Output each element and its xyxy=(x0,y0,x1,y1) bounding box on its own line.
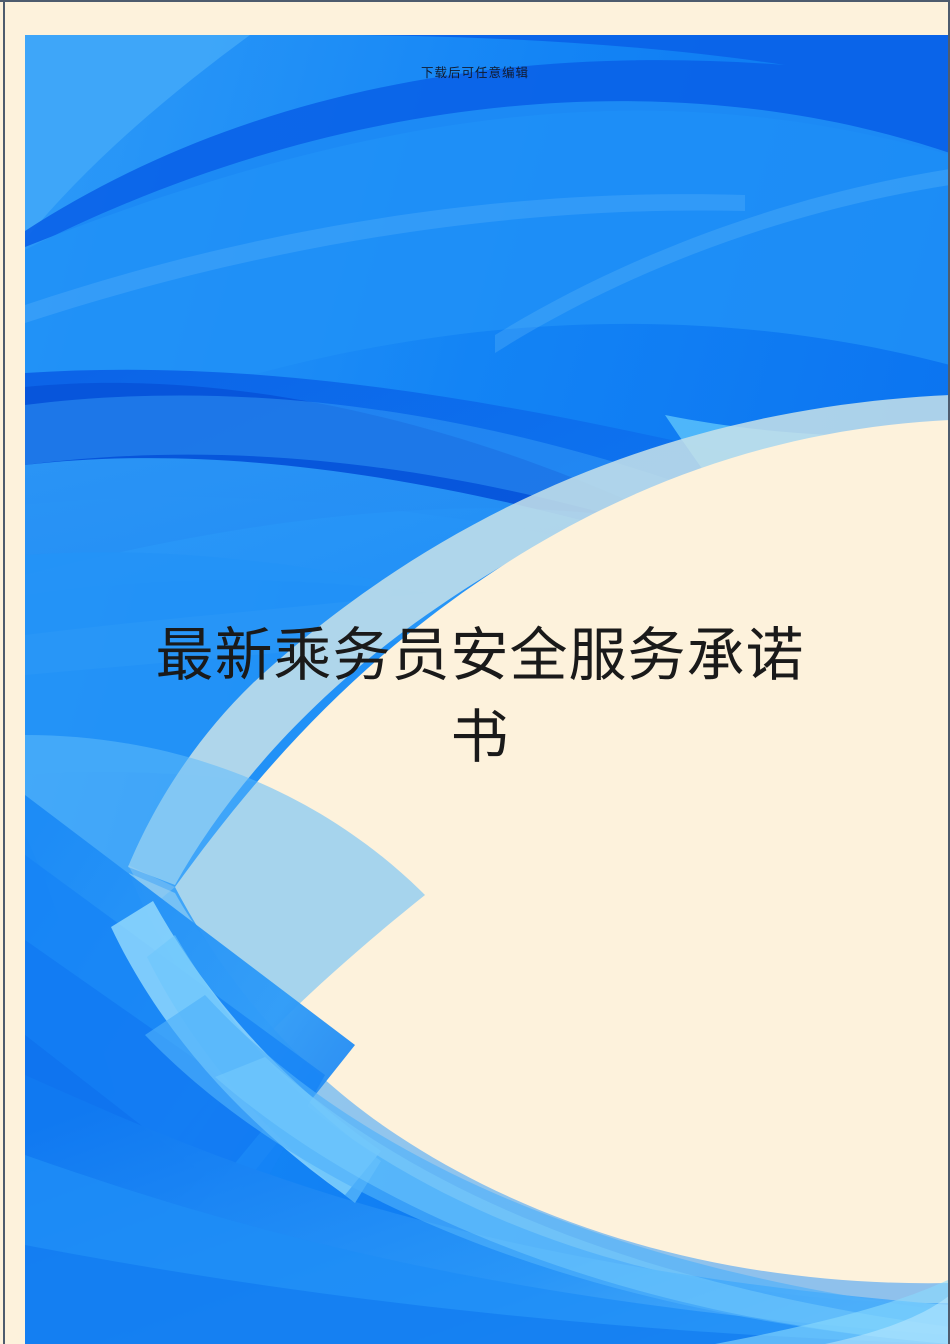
page-border-top xyxy=(0,0,950,2)
page-border-left xyxy=(3,0,5,1344)
title-block: 最新乘务员安全服务承诺书 xyxy=(150,614,810,778)
page-title: 最新乘务员安全服务承诺书 xyxy=(150,614,810,778)
document-page: 下载后可任意编辑 最新乘务员安全服务承诺书 xyxy=(0,0,950,1344)
